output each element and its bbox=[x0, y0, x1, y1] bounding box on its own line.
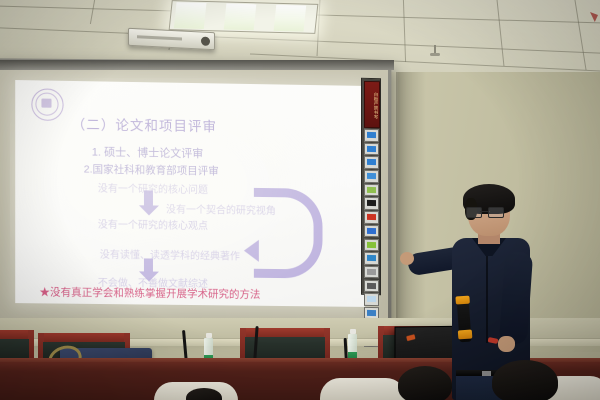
pen-black-icon bbox=[367, 200, 376, 206]
shirt-placket bbox=[486, 248, 488, 343]
water-bottle bbox=[204, 333, 213, 361]
home-icon bbox=[367, 132, 376, 138]
slide-title: （二）论文和项目评审 bbox=[72, 113, 217, 135]
audience-seat bbox=[320, 378, 406, 400]
laptop-logo-icon bbox=[406, 334, 415, 341]
projector-lens bbox=[201, 37, 210, 46]
ceiling-projector bbox=[128, 28, 215, 51]
lecture-room-scene: （二）论文和项目评审 1. 硕士、博士论文评审 2.国家社科和教育部项目评审 没… bbox=[0, 0, 600, 400]
wall-shadow bbox=[396, 52, 426, 352]
slide-conclusion: ★没有真正学会和熟练掌握开展学术研究的方法 bbox=[39, 284, 260, 302]
toolbar-shapes-icon[interactable] bbox=[364, 252, 379, 265]
curved-loop-arrow-icon bbox=[254, 188, 323, 279]
toolbar-eraser-icon[interactable] bbox=[364, 266, 379, 279]
ceiling-grid-line bbox=[574, 0, 586, 70]
forward-arrow-icon bbox=[367, 159, 376, 165]
pen-blue-icon bbox=[367, 228, 376, 234]
projector-vent bbox=[137, 35, 182, 40]
down-arrow-icon bbox=[144, 258, 153, 272]
slide-line-2: 2.国家社科和教育部项目评审 bbox=[84, 161, 219, 178]
toolbar-back-arrow-icon[interactable] bbox=[364, 143, 379, 156]
chair-top-rail bbox=[38, 333, 130, 342]
ceiling-light-panel bbox=[169, 0, 319, 34]
highlighter-icon bbox=[367, 241, 376, 247]
presenter-left-hand bbox=[400, 252, 414, 265]
whiteboard-top-rail bbox=[0, 60, 394, 70]
screen-icon bbox=[367, 173, 376, 179]
microphone-bottom-band bbox=[458, 329, 473, 339]
down-arrow-icon bbox=[144, 190, 153, 206]
glasses-left-lens bbox=[466, 207, 482, 218]
audience-head bbox=[492, 360, 558, 400]
fire-sprinkler-head bbox=[434, 45, 436, 54]
ceiling-grid-line bbox=[497, 0, 505, 66]
eraser-icon bbox=[367, 269, 376, 275]
toolbar-home-icon[interactable] bbox=[364, 129, 379, 142]
save-icon bbox=[367, 310, 376, 316]
light-tube bbox=[224, 4, 257, 31]
toolbar-pen-red-icon[interactable] bbox=[364, 211, 379, 224]
toolbar-screen-icon[interactable] bbox=[364, 170, 379, 183]
stamp-icon bbox=[367, 282, 376, 288]
ceiling-clip bbox=[590, 12, 598, 22]
ceiling-grid-line bbox=[403, 0, 406, 62]
toolbar-icon-list[interactable] bbox=[364, 129, 378, 348]
handheld-microphone bbox=[456, 296, 471, 343]
projected-slide: （二）论文和项目评审 1. 硕士、博士论文评审 2.国家社科和教育部项目评审 没… bbox=[15, 80, 365, 307]
curved-arrow-head-icon bbox=[244, 240, 259, 262]
toolbar-highlighter-icon[interactable] bbox=[364, 238, 379, 251]
toolbar-forward-arrow-icon[interactable] bbox=[364, 156, 379, 169]
pen-red-icon bbox=[367, 214, 376, 220]
water-bottle bbox=[348, 329, 357, 359]
whiteboard-toolbar[interactable]: 白板严禁书写 bbox=[361, 78, 381, 295]
chair-top-rail bbox=[240, 328, 330, 337]
toolbar-pen-black-icon[interactable] bbox=[364, 197, 379, 210]
shapes-icon bbox=[367, 255, 376, 261]
toolbar-pen-blue-icon[interactable] bbox=[364, 225, 379, 238]
toolbar-select-tool-icon[interactable] bbox=[364, 184, 379, 197]
toolbar-stamp-icon[interactable] bbox=[364, 279, 379, 292]
page-icon bbox=[367, 296, 376, 302]
audience-head bbox=[398, 366, 452, 400]
toolbar-notice-label: 白板严禁书写 bbox=[364, 81, 380, 128]
slide-line-6: 没有读懂、读透学科的经典著作 bbox=[100, 246, 240, 263]
university-seal-logo bbox=[31, 88, 63, 121]
toolbar-page-icon[interactable] bbox=[364, 293, 379, 306]
star-icon: ★ bbox=[39, 286, 50, 298]
slide-line-5: 没有一个研究的核心观点 bbox=[98, 216, 208, 232]
glasses-right-lens bbox=[488, 207, 504, 218]
light-tube bbox=[274, 5, 307, 32]
slide-conclusion-text: 没有真正学会和熟练掌握开展学术研究的方法 bbox=[50, 286, 260, 300]
ceiling-grid-line bbox=[90, 0, 95, 24]
light-tube bbox=[174, 2, 207, 29]
slide-line-1: 1. 硕士、博士论文评审 bbox=[92, 143, 203, 161]
microphone-top-band bbox=[455, 296, 470, 305]
back-arrow-icon bbox=[367, 146, 376, 152]
presenter-right-hand bbox=[498, 336, 515, 352]
select-tool-icon bbox=[367, 187, 376, 193]
glasses-icon bbox=[466, 207, 504, 216]
